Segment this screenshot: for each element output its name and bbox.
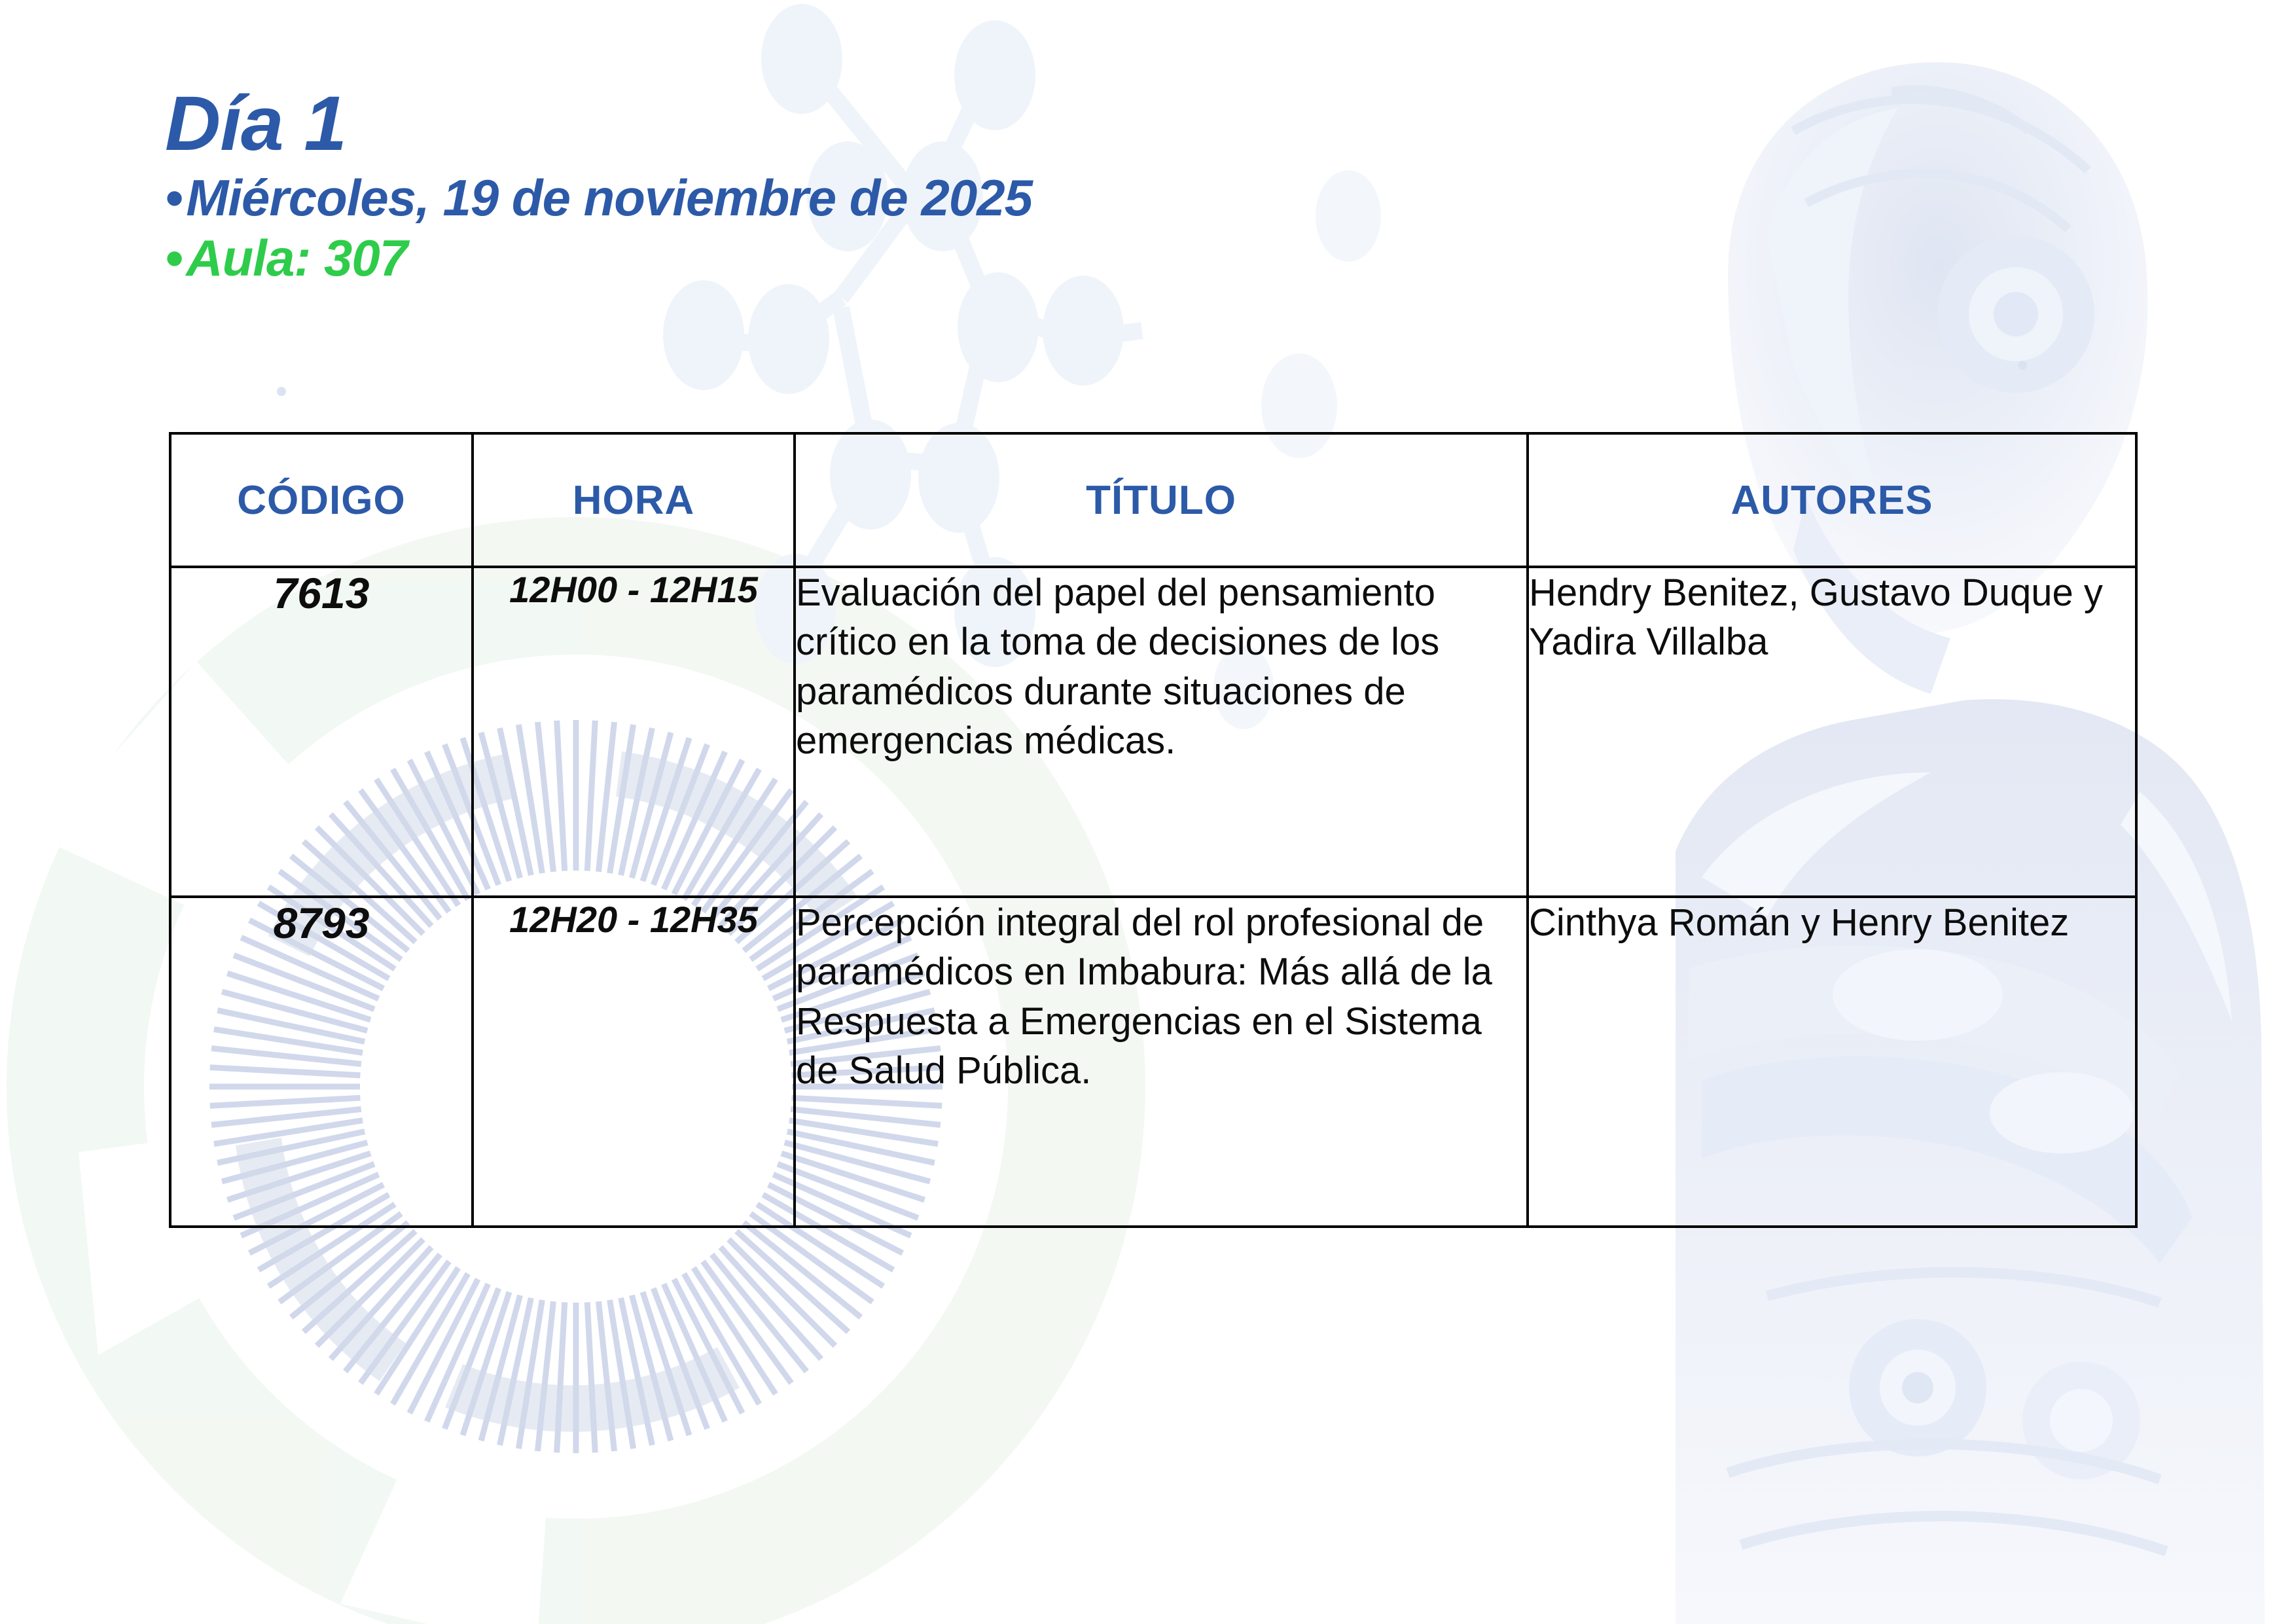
cell-codigo: 7613 [170,567,473,897]
column-header-codigo: CÓDIGO [170,433,473,567]
column-header-hora: HORA [473,433,795,567]
date-line: • Miércoles, 19 de noviembre de 2025 [165,168,1605,228]
bullet-icon: • [165,232,182,283]
table-row: 8793 12H20 - 12H35 Percepción integral d… [170,897,2136,1227]
dot-accent-icon [277,361,2027,396]
date-text: Miércoles, 19 de noviembre de 2025 [186,168,1032,228]
column-header-autores: AUTORES [1528,433,2136,567]
cell-hora: 12H00 - 12H15 [473,567,795,897]
cell-autores: Hendry Benitez, Gustavo Duque y Yadira V… [1528,567,2136,897]
room-line: • Aula: 307 [165,228,1605,288]
bullet-icon: • [165,172,182,223]
cell-titulo: Evaluación del papel del pensamiento crí… [795,567,1528,897]
cell-hora: 12H20 - 12H35 [473,897,795,1227]
slide-header: Día 1 • Miércoles, 19 de noviembre de 20… [165,85,1605,288]
room-text: Aula: 307 [186,228,407,288]
column-header-titulo: TÍTULO [795,433,1528,567]
table-header-row: CÓDIGO HORA TÍTULO AUTORES [170,433,2136,567]
cell-autores: Cinthya Román y Henry Benitez [1528,897,2136,1227]
cell-titulo: Percepción integral del rol profesional … [795,897,1528,1227]
cell-codigo: 8793 [170,897,473,1227]
table-row: 7613 12H00 - 12H15 Evaluación del papel … [170,567,2136,897]
agenda-table: CÓDIGO HORA TÍTULO AUTORES 7613 12H00 - … [169,432,2138,1228]
page-title: Día 1 [165,85,1605,162]
